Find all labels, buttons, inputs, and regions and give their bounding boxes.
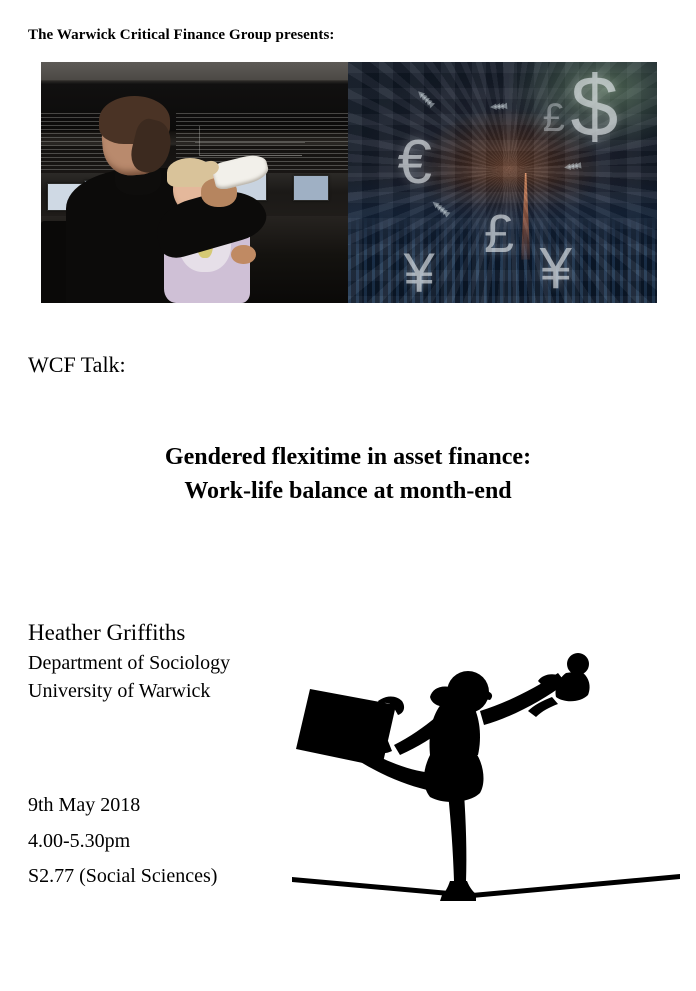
poster-image-band: $ £ € £ ¥ ¥ ◂◂◂◂◂ ◂◂◂◂◂ ◂◂◂◂ ◂◂◂◂ bbox=[41, 62, 657, 303]
head bbox=[447, 671, 489, 713]
baby-silhouette bbox=[528, 653, 590, 717]
event-details-block: 9th May 2018 4.00-5.30pm S2.77 (Social S… bbox=[28, 788, 217, 895]
talk-title: Gendered flexitime in asset finance: Wor… bbox=[0, 440, 696, 508]
support-leg bbox=[448, 793, 466, 882]
ponytail bbox=[430, 686, 452, 706]
wallboard-index-chart bbox=[195, 122, 306, 158]
dollar-symbol-icon: $ bbox=[570, 64, 618, 150]
speaker-block: Heather Griffiths Department of Sociolog… bbox=[28, 617, 230, 706]
speaker-name: Heather Griffiths bbox=[28, 617, 230, 649]
speaker-department: Department of Sociology bbox=[28, 649, 230, 677]
event-venue: S2.77 (Social Sciences) bbox=[28, 859, 217, 895]
yen-symbol-icon: ¥ bbox=[540, 240, 572, 298]
pound-symbol-icon: £ bbox=[543, 98, 565, 138]
tightrope-line bbox=[292, 874, 680, 898]
global-currency-montage-photo: $ £ € £ ¥ ¥ ◂◂◂◂◂ ◂◂◂◂◂ ◂◂◂◂ ◂◂◂◂ bbox=[348, 62, 657, 303]
trading-floor-mother-and-baby-photo bbox=[41, 62, 348, 303]
event-time: 4.00-5.30pm bbox=[28, 824, 217, 860]
event-date: 9th May 2018 bbox=[28, 788, 217, 824]
presents-line: The Warwick Critical Finance Group prese… bbox=[28, 27, 334, 44]
chevron-arrow-icon: ◂◂◂◂ bbox=[563, 157, 579, 175]
pound-symbol-icon: £ bbox=[484, 207, 514, 261]
euro-symbol-icon: € bbox=[397, 132, 431, 194]
tightrope-walker-silhouette bbox=[290, 645, 682, 907]
yen-symbol-icon: ¥ bbox=[404, 245, 435, 301]
skirt bbox=[424, 753, 483, 802]
talk-title-line-1: Gendered flexitime in asset finance: bbox=[0, 440, 696, 474]
high-heel-shoe bbox=[440, 881, 476, 901]
briefcase bbox=[296, 689, 404, 767]
speaker-institution: University of Warwick bbox=[28, 677, 230, 705]
talk-title-line-2: Work-life balance at month-end bbox=[0, 474, 696, 508]
desk-monitor bbox=[293, 175, 329, 201]
series-label: WCF Talk: bbox=[28, 352, 126, 378]
chevron-arrow-icon: ◂◂◂◂ bbox=[490, 98, 505, 115]
